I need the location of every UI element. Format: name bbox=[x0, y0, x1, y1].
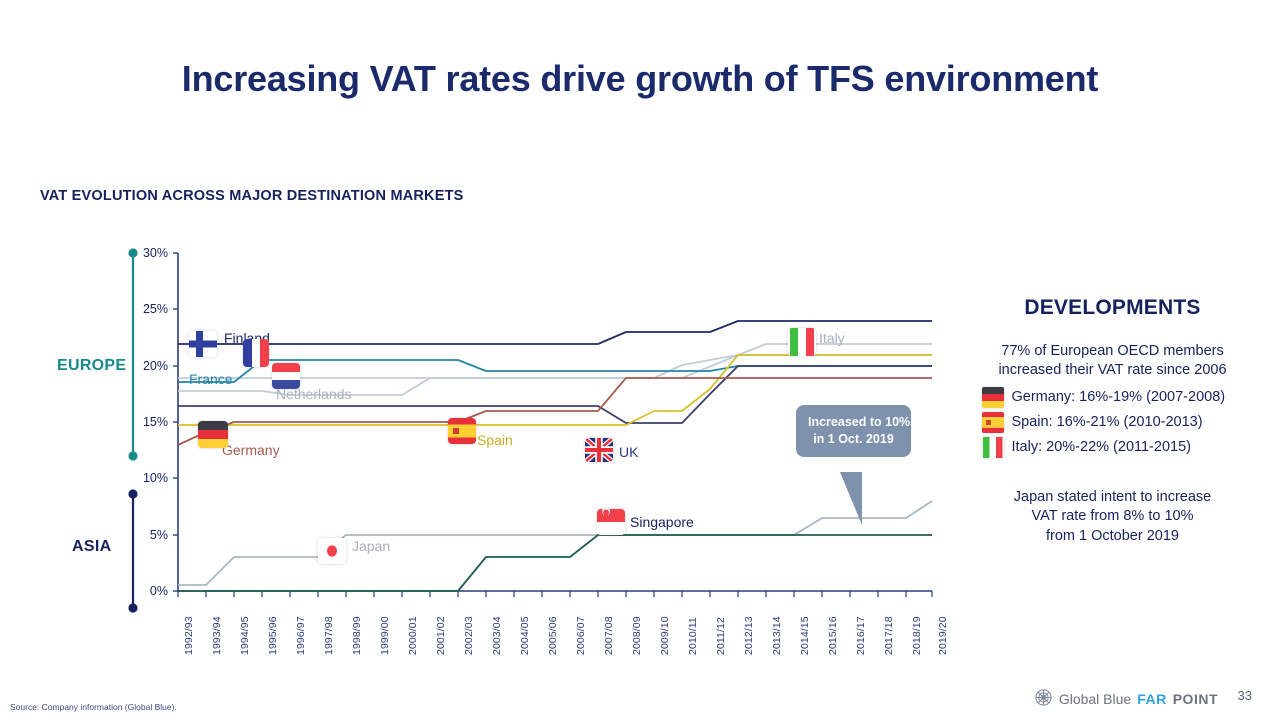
xtick-2014-15: 2014/15 bbox=[799, 616, 811, 655]
developments-lead-line-2: increased their VAT rate since 2006 bbox=[955, 361, 1270, 380]
ytick-20: 20% bbox=[128, 359, 168, 373]
developments-lead-line-1: 77% of European OECD members bbox=[955, 342, 1270, 361]
page-title: Increasing VAT rates drive growth of TFS… bbox=[0, 58, 1280, 100]
brand-point: POINT bbox=[1173, 691, 1218, 707]
xtick-2018-19: 2018/19 bbox=[911, 616, 923, 655]
developments-item-text: Italy: 20%-22% (2011-2015) bbox=[1012, 437, 1191, 459]
xtick-2002-03: 2002/03 bbox=[463, 616, 475, 655]
japan-increase-callout: Increased to 10% in 1 Oct. 2019 bbox=[796, 405, 911, 457]
germany-flag-icon bbox=[198, 421, 228, 448]
xtick-1993-94: 1993/94 bbox=[211, 616, 223, 655]
source-note: Source: Company information (Global Blue… bbox=[10, 702, 177, 712]
developments-title: DEVELOPMENTS bbox=[955, 296, 1270, 320]
series-line-singapore bbox=[178, 535, 932, 591]
xtick-2004-05: 2004/05 bbox=[519, 616, 531, 655]
italy-flag-icon bbox=[788, 328, 816, 356]
developments-lead: 77% of European OECD members increased t… bbox=[955, 342, 1270, 380]
list-item: Spain: 16%-21% (2010-2013) bbox=[982, 410, 1244, 435]
germany-flag-icon bbox=[982, 387, 1004, 408]
xtick-2007-08: 2007/08 bbox=[603, 616, 615, 655]
xtick-1996-97: 1996/97 bbox=[295, 616, 307, 655]
brand-global-blue: Global Blue bbox=[1059, 691, 1131, 707]
ytick-5: 5% bbox=[128, 528, 168, 542]
xtick-2001-02: 2001/02 bbox=[435, 616, 447, 655]
brand-far: FAR bbox=[1137, 691, 1167, 707]
xtick-2000-01: 2000/01 bbox=[407, 616, 419, 655]
footer-brand: Global Blue FAR POINT bbox=[1034, 688, 1218, 710]
france-flag-icon bbox=[243, 339, 269, 367]
xtick-1992-93: 1992/93 bbox=[183, 616, 195, 655]
page-number: 33 bbox=[1238, 688, 1252, 703]
y-axis bbox=[173, 253, 178, 591]
global-blue-logo-icon bbox=[1034, 688, 1053, 710]
japan-flag-icon bbox=[318, 538, 346, 564]
series-label-spain: Spain bbox=[477, 432, 513, 448]
developments-footnote-line-2: VAT rate from 8% to 10% bbox=[955, 507, 1270, 526]
ytick-10: 10% bbox=[128, 471, 168, 485]
developments-item-text: Germany: 16%-19% (2007-2008) bbox=[1012, 387, 1226, 409]
uk-flag-icon bbox=[585, 438, 613, 462]
region-label-asia: ASIA bbox=[72, 538, 111, 556]
xtick-2013-14: 2013/14 bbox=[771, 616, 783, 655]
developments-item-text: Spain: 16%-21% (2010-2013) bbox=[1012, 412, 1203, 434]
xtick-2017-18: 2017/18 bbox=[883, 616, 895, 655]
ytick-30: 30% bbox=[128, 246, 168, 260]
italy-flag-icon bbox=[982, 437, 1004, 458]
ytick-15: 15% bbox=[128, 415, 168, 429]
spain-flag-icon bbox=[448, 418, 476, 444]
netherlands-flag-icon bbox=[272, 363, 300, 389]
xtick-2010-11: 2010/11 bbox=[687, 617, 699, 655]
callout-line-1: Increased to 10% bbox=[808, 414, 899, 431]
xtick-1995-96: 1995/96 bbox=[267, 616, 279, 655]
developments-list: Germany: 16%-19% (2007-2008) Spain: 16%-… bbox=[982, 385, 1244, 460]
developments-footnote-line-3: from 1 October 2019 bbox=[955, 527, 1270, 546]
developments-footnote: Japan stated intent to increase VAT rate… bbox=[955, 488, 1270, 545]
ytick-0: 0% bbox=[128, 584, 168, 598]
region-label-europe: EUROPE bbox=[57, 357, 126, 375]
series-label-germany: Germany bbox=[222, 442, 280, 458]
xtick-1997-98: 1997/98 bbox=[323, 616, 335, 655]
xtick-1999-00: 1999/00 bbox=[379, 616, 391, 655]
xtick-2015-16: 2015/16 bbox=[827, 616, 839, 655]
xtick-2006-07: 2006/07 bbox=[575, 616, 587, 655]
series-label-singapore: Singapore bbox=[630, 514, 694, 530]
series-label-italy: Italy bbox=[819, 330, 845, 346]
list-item: Germany: 16%-19% (2007-2008) bbox=[982, 385, 1244, 410]
slide-root: Increasing VAT rates drive growth of TFS… bbox=[0, 0, 1280, 720]
callout-line-2: in 1 Oct. 2019 bbox=[808, 431, 899, 448]
spain-flag-icon bbox=[982, 412, 1004, 433]
series-label-uk: UK bbox=[619, 444, 638, 460]
xtick-1998-99: 1998/99 bbox=[351, 616, 363, 655]
series-label-japan: Japan bbox=[352, 538, 390, 554]
series-line-japan bbox=[178, 501, 932, 585]
developments-footnote-line-1: Japan stated intent to increase bbox=[955, 488, 1270, 507]
developments-panel: DEVELOPMENTS 77% of European OECD member… bbox=[955, 296, 1270, 546]
singapore-flag-icon bbox=[597, 509, 625, 535]
xtick-2012-13: 2012/13 bbox=[743, 616, 755, 655]
xtick-2008-09: 2008/09 bbox=[631, 616, 643, 655]
xtick-2016-17: 2016/17 bbox=[855, 616, 867, 655]
series-label-france: France bbox=[189, 371, 233, 387]
xtick-2011-12: 2011/12 bbox=[715, 617, 727, 655]
vat-evolution-chart: 30% 25% 20% 15% 10% 5% 0% 1992/93 1993/9… bbox=[0, 235, 960, 665]
section-subtitle: VAT EVOLUTION ACROSS MAJOR DESTINATION M… bbox=[40, 188, 464, 204]
callout-tail bbox=[840, 472, 862, 525]
xtick-2019-20: 2019/20 bbox=[937, 616, 949, 655]
finland-flag-icon bbox=[189, 331, 217, 357]
xtick-2005-06: 2005/06 bbox=[547, 616, 559, 655]
list-item: Italy: 20%-22% (2011-2015) bbox=[982, 435, 1244, 460]
xtick-1994-95: 1994/95 bbox=[239, 616, 251, 655]
x-axis bbox=[178, 591, 932, 597]
xtick-2003-04: 2003/04 bbox=[491, 616, 503, 655]
ytick-25: 25% bbox=[128, 302, 168, 316]
xtick-2009-10: 2009/10 bbox=[659, 616, 671, 655]
